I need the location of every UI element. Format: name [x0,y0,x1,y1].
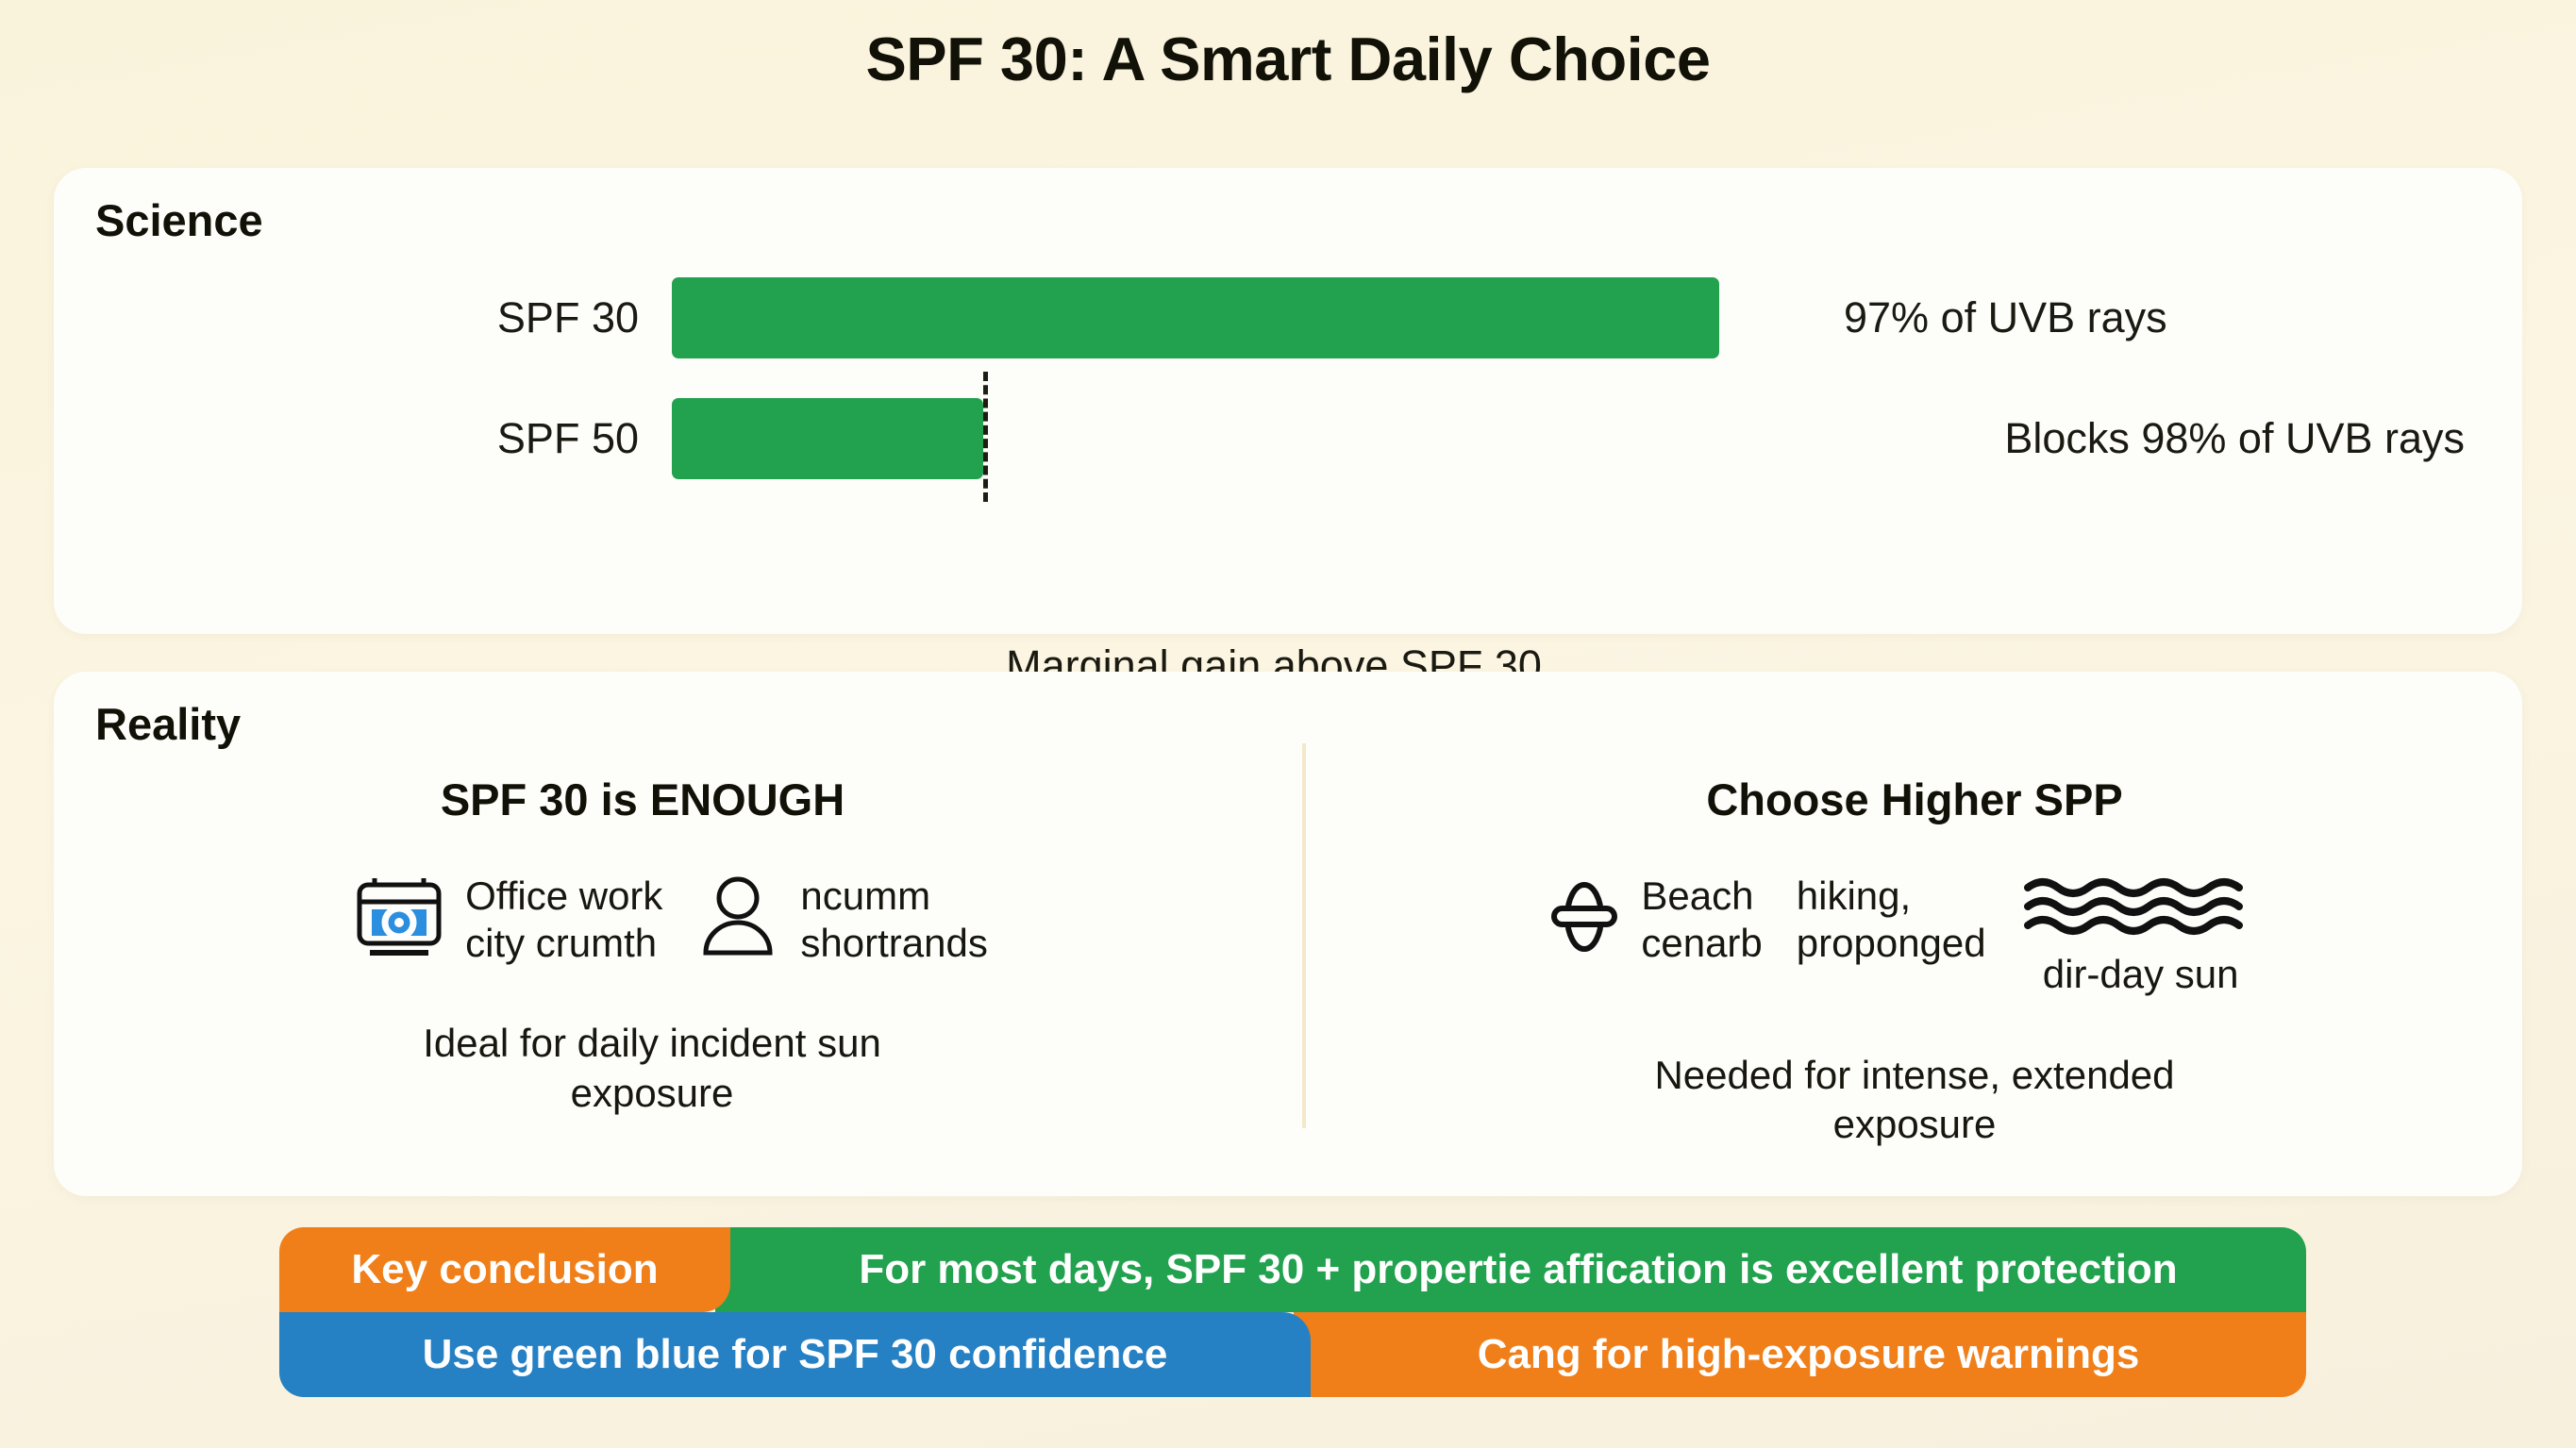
bar-track-spf30 [672,277,1823,358]
footer-row-tips: Use green blue for SPF 30 confidence Can… [279,1312,2306,1397]
left-column-title: SPF 30 is ENOUGH [25,774,1260,825]
reality-left-column: SPF 30 is ENOUGH [54,774,1288,1189]
right-column-footnote: Needed for intense, extended exposure [1297,1051,2532,1150]
bar-label-spf50: SPF 50 [54,414,672,463]
list-item-label: hiking, proponged [1797,873,1986,966]
reality-columns: SPF 30 is ENOUGH [54,774,2522,1189]
umbrella-icon [1548,876,1620,962]
list-item-label: Beach cenarb [1641,873,1762,966]
science-card: Science SPF 30 97% of UVB rays SPF 50 Bl… [54,168,2522,634]
person-icon [696,874,779,965]
footer-banner: Key conclusion For most days, SPF 30 + p… [279,1227,2306,1397]
reality-right-column: Choose Higher SPP Beach cenarb hiking, p… [1288,774,2522,1189]
right-column-title: Choose Higher SPP [1297,774,2532,825]
bar-value-spf30: 97% of UVB rays [1823,293,2167,342]
tip-orange-text: Cang for high-exposure warnings [1294,1312,2306,1397]
bar-fill-spf30 [672,277,1719,358]
bar-value-spf50: Blocks 98% of UVB rays [1823,414,2465,463]
list-item: dir-day sun [2003,873,2279,998]
reality-card: Reality SPF 30 is ENOUGH [54,672,2522,1196]
list-item: Beach cenarb [1531,873,1779,966]
bar-track-spf50 [672,398,1823,479]
list-item-label: dir-day sun [2043,951,2239,998]
list-item: ncumm shortrands [679,873,1004,966]
conclusion-text: For most days, SPF 30 + propertie affica… [715,1227,2306,1312]
marginal-gain-reference-line [983,372,988,502]
page-title: SPF 30: A Smart Daily Choice [0,0,2576,94]
list-item: Office work city crumth [337,873,679,966]
bar-label-spf30: SPF 30 [54,293,672,342]
tip-blue-text: Use green blue for SPF 30 confidence [279,1312,1311,1397]
reality-heading: Reality [95,698,241,750]
window-monitor-icon [354,874,444,965]
uvb-bar-chart: SPF 30 97% of UVB rays SPF 50 Blocks 98%… [54,277,2522,504]
left-column-footnote: Ideal for daily incident sun exposure [35,1019,1269,1118]
left-icon-row: Office work city crumth ncumm shortrands [54,873,1288,966]
footer-row-conclusion: Key conclusion For most days, SPF 30 + p… [279,1227,2306,1312]
bar-row: SPF 50 Blocks 98% of UVB rays [54,398,2522,479]
key-conclusion-badge: Key conclusion [279,1227,730,1312]
list-item-label: ncumm shortrands [800,873,987,966]
science-heading: Science [95,194,263,246]
bar-fill-spf50 [672,398,983,479]
bar-row: SPF 30 97% of UVB rays [54,277,2522,358]
list-item: hiking, proponged [1780,873,2003,966]
list-item-label: Office work city crumth [465,873,662,966]
right-icon-row: Beach cenarb hiking, proponged [1288,873,2522,998]
waves-icon [2020,873,2262,945]
